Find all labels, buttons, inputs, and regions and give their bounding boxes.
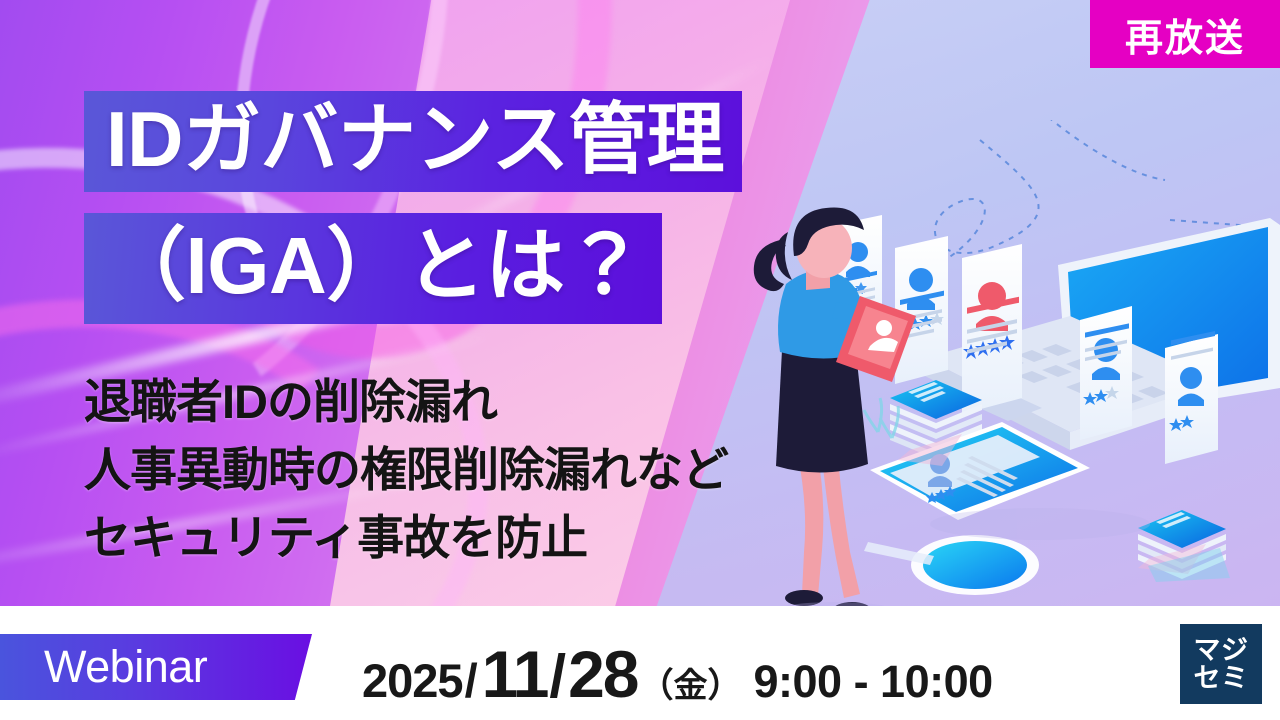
profile-card-highlighted [962,244,1022,414]
event-month: 11 [482,636,548,712]
event-time: 9:00 - 10:00 [754,656,993,708]
subtitle-line-3: セキュリティ事故を防止 [84,504,728,572]
title-line-2: （IGA）とは？ [84,213,662,324]
glow-pad [911,535,1039,595]
profile-card [1165,331,1218,464]
profile-card [895,236,948,384]
profile-card [1080,306,1132,440]
subtitle-block: 退職者IDの削除漏れ 人事異動時の権限削除漏れなど セキュリティ事故を防止 [84,368,728,572]
rebroadcast-badge: 再放送 [1090,0,1280,68]
majisemi-logo: マジ セミ [1180,624,1262,704]
webinar-badge: Webinar [0,634,312,700]
date-slash-2: / [549,642,566,711]
logo-line-2: セミ [1194,664,1249,692]
event-year: 2025 [362,653,463,708]
event-day-of-week: （金） [640,658,742,707]
subtitle-line-1: 退職者IDの削除漏れ [84,368,728,436]
event-datetime: 2025 / 11 / 28 （金） 9:00 - 10:00 [362,636,993,712]
footer-bar: Webinar 2025 / 11 / 28 （金） 9:00 - 10:00 … [0,606,1280,720]
webinar-banner: IDガバナンス管理 （IGA）とは？ 退職者IDの削除漏れ 人事異動時の権限削除… [0,0,1280,720]
event-day: 28 [568,636,637,712]
hero-illustration [740,120,1280,606]
date-slash-1: / [465,653,478,708]
logo-line-1: マジ [1194,636,1249,664]
title-line-1: IDガバナンス管理 [84,91,742,192]
subtitle-line-2: 人事異動時の権限削除漏れなど [84,436,728,504]
